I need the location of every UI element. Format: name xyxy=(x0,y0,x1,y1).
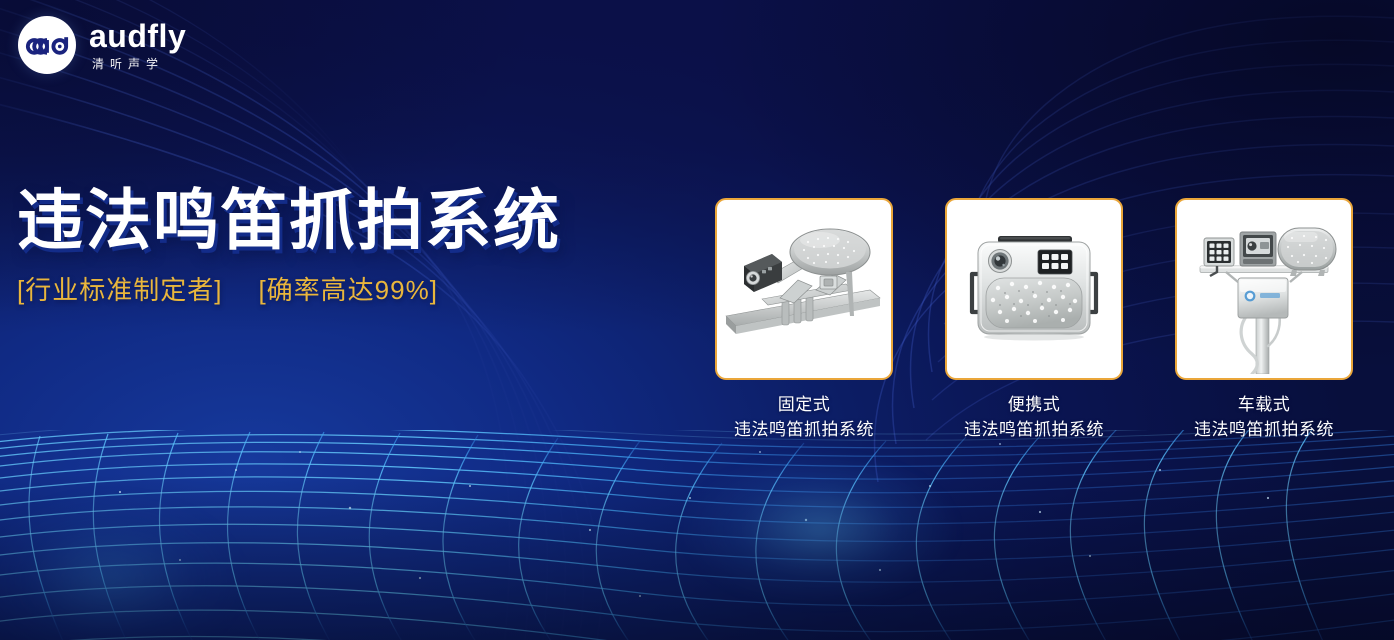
headline-tag-2: [确率高达99%] xyxy=(258,270,438,307)
product-caption-line2: 违法鸣笛抓拍系统 xyxy=(715,418,893,443)
product-image-frame xyxy=(945,198,1123,380)
product-caption-line1: 便携式 xyxy=(945,393,1123,418)
product-caption-line1: 车载式 xyxy=(1175,393,1353,418)
brand-logo[interactable]: audfly 清听声学 xyxy=(18,16,186,74)
brand-wordmark: audfly 清听声学 xyxy=(89,20,186,70)
product-caption-line1: 固定式 xyxy=(715,393,893,418)
product-caption: 固定式 违法鸣笛抓拍系统 xyxy=(715,393,893,442)
promo-banner: audfly 清听声学 违法鸣笛抓拍系统 [行业标准制定者] [确率高达99%] xyxy=(0,0,1394,640)
product-image-frame xyxy=(1175,198,1353,380)
product-card-vehicle[interactable]: 车载式 违法鸣笛抓拍系统 xyxy=(1175,198,1353,442)
product-caption: 便携式 违法鸣笛抓拍系统 xyxy=(945,393,1123,442)
product-caption-line2: 违法鸣笛抓拍系统 xyxy=(1175,418,1353,443)
fixed-horn-capture-device-icon xyxy=(720,204,888,374)
headline-block: 违法鸣笛抓拍系统 [行业标准制定者] [确率高达99%] xyxy=(17,186,561,307)
vehicle-mounted-horn-capture-device-icon xyxy=(1180,204,1348,374)
portable-horn-capture-device-icon xyxy=(950,204,1118,374)
aud-circle-logo-icon xyxy=(18,16,76,74)
brand-name-cn: 清听声学 xyxy=(89,58,186,70)
product-caption-line2: 违法鸣笛抓拍系统 xyxy=(945,418,1123,443)
product-image-frame xyxy=(715,198,893,380)
headline-tags: [行业标准制定者] [确率高达99%] xyxy=(17,270,561,307)
product-caption: 车载式 违法鸣笛抓拍系统 xyxy=(1175,393,1353,442)
product-card-fixed[interactable]: 固定式 违法鸣笛抓拍系统 xyxy=(715,198,893,442)
product-card-list: 固定式 违法鸣笛抓拍系统 xyxy=(715,198,1353,442)
brand-name: audfly xyxy=(89,20,186,52)
headline-tag-1: [行业标准制定者] xyxy=(17,270,222,307)
page-title: 违法鸣笛抓拍系统 xyxy=(17,186,561,256)
product-card-portable[interactable]: 便携式 违法鸣笛抓拍系统 xyxy=(945,198,1123,442)
